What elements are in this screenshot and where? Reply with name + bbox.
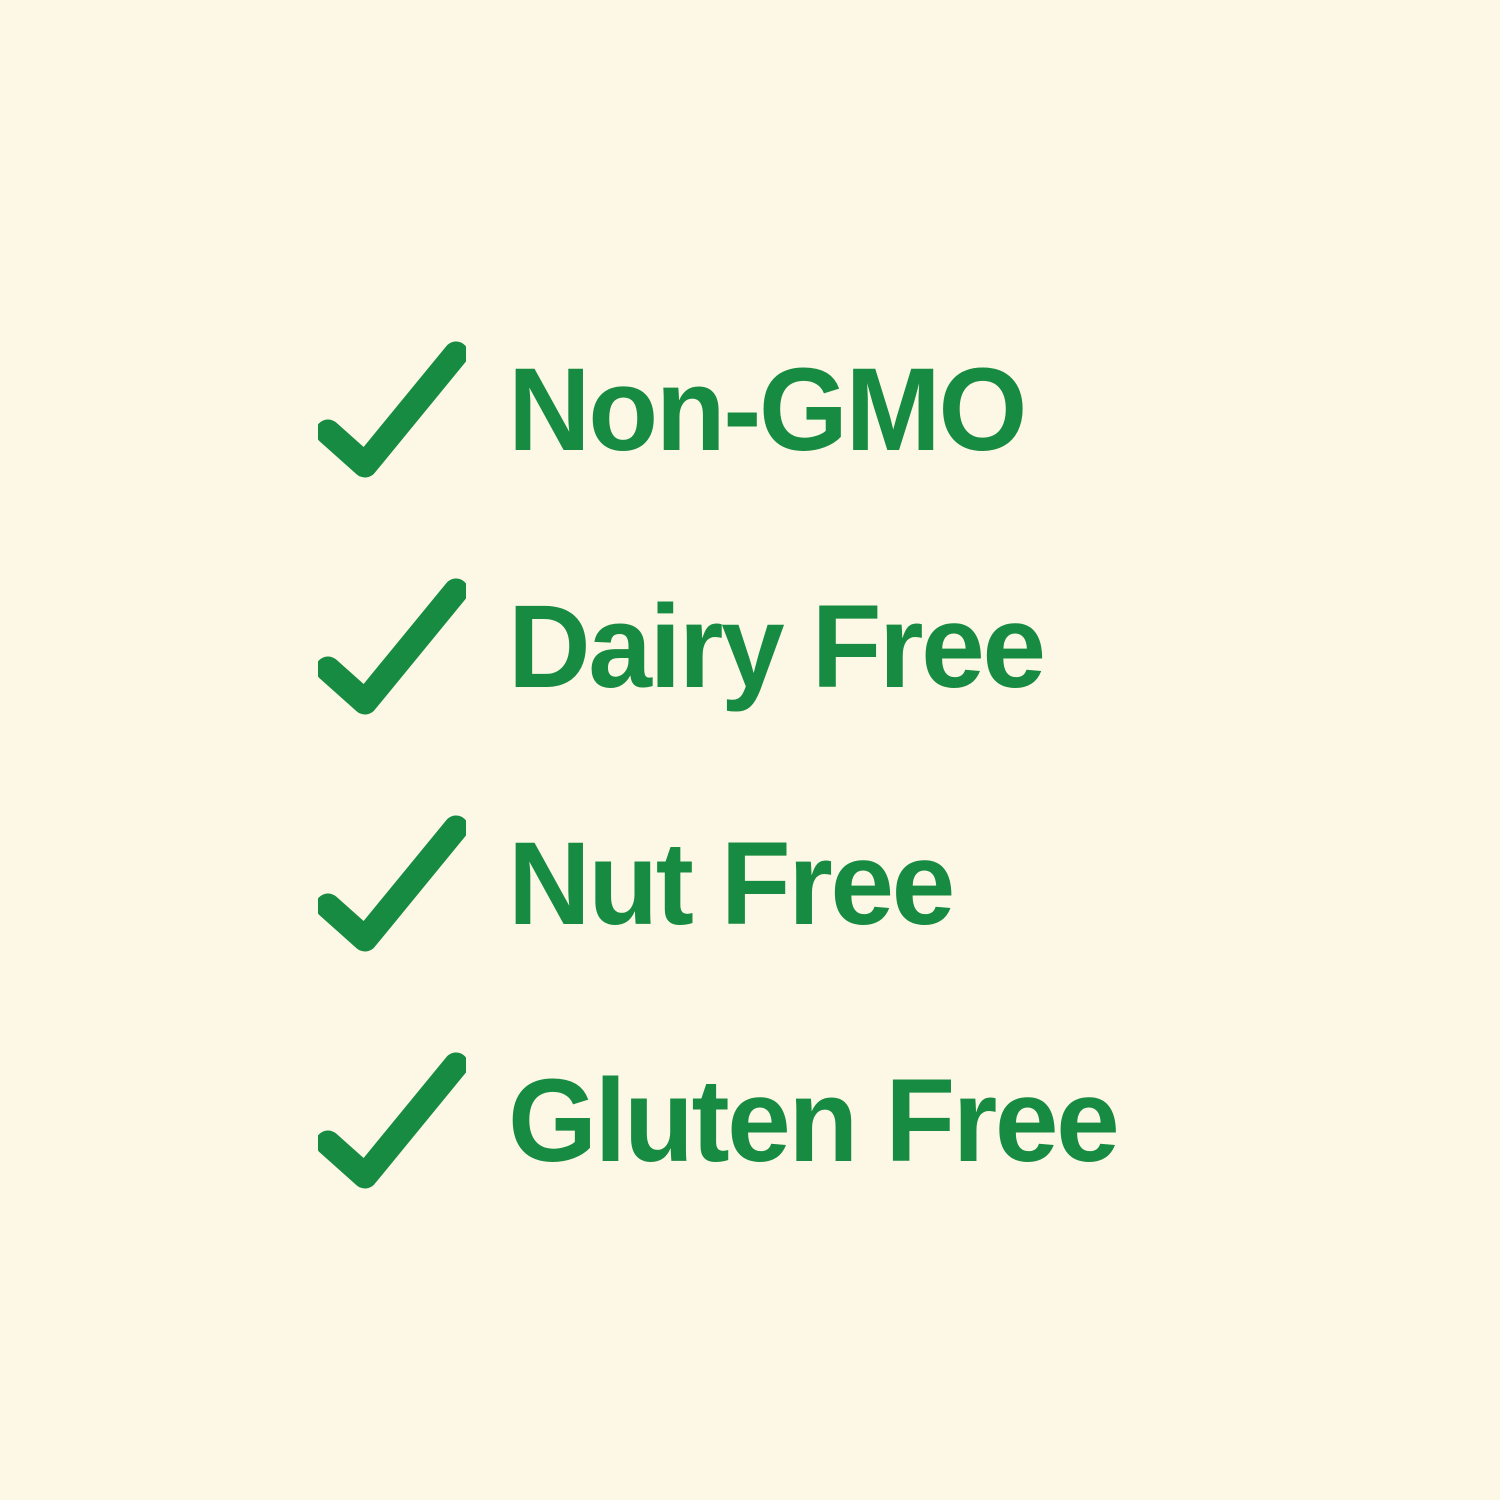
list-item: Dairy Free	[318, 567, 1178, 727]
claim-label: Nut Free	[508, 825, 953, 943]
claim-label: Dairy Free	[508, 588, 1044, 706]
checkmark-icon	[318, 572, 468, 722]
claim-label: Non-GMO	[508, 351, 1025, 469]
checkmark-icon	[318, 1046, 468, 1196]
list-item: Non-GMO	[318, 330, 1178, 490]
checkmark-icon	[318, 335, 468, 485]
list-item: Gluten Free	[318, 1041, 1178, 1201]
checkmark-icon	[318, 809, 468, 959]
claim-label: Gluten Free	[508, 1062, 1117, 1180]
claims-list: Non-GMO Dairy Free Nut Free	[318, 330, 1178, 1201]
list-item: Nut Free	[318, 804, 1178, 964]
claims-graphic: Non-GMO Dairy Free Nut Free	[0, 0, 1500, 1500]
